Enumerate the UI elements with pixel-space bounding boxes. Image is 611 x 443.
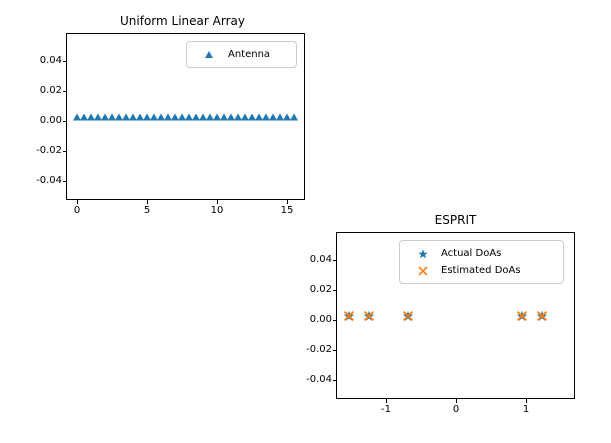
- ytick-label: -0.04: [18, 176, 62, 186]
- ytick-label: -0.02: [18, 146, 62, 156]
- estimated-doa-marker: [537, 306, 548, 325]
- xtick-mark: [217, 200, 218, 204]
- legend-uniform-linear-array[interactable]: Antenna: [186, 41, 297, 68]
- xtick-mark: [526, 399, 527, 403]
- legend-label: Antenna: [224, 49, 270, 60]
- xtick-mark: [386, 399, 387, 403]
- ytick-label: -0.02: [288, 345, 332, 355]
- ytick-label: 0.00: [22, 116, 62, 126]
- estimated-doa-marker: [403, 306, 414, 325]
- legend-entry-actual-doas[interactable]: Actual DoAs: [407, 245, 556, 262]
- xtick-mark: [77, 200, 78, 204]
- xtick-label: 15: [272, 206, 302, 216]
- triangle-up-icon: [194, 51, 224, 58]
- xtick-label: -1: [371, 405, 401, 415]
- estimated-doa-marker: [343, 306, 354, 325]
- legend-esprit[interactable]: Actual DoAs Estimated DoAs: [399, 240, 564, 284]
- xtick-label: 5: [132, 206, 162, 216]
- xtick-label: 0: [441, 405, 471, 415]
- ytick-label: 0.04: [22, 56, 62, 66]
- legend-label: Actual DoAs: [437, 248, 501, 259]
- xtick-label: 1: [511, 405, 541, 415]
- chart-title-esprit: ESPRIT: [336, 213, 575, 227]
- x-mark-icon: [407, 266, 437, 275]
- ytick-label: 0.02: [22, 86, 62, 96]
- ytick-label: 0.04: [292, 255, 332, 265]
- xtick-label: 0: [62, 206, 92, 216]
- xtick-mark: [287, 200, 288, 204]
- ytick-label: 0.00: [292, 315, 332, 325]
- estimated-doa-marker: [517, 306, 528, 325]
- legend-entry-estimated-doas[interactable]: Estimated DoAs: [407, 262, 556, 279]
- legend-entry-antenna[interactable]: Antenna: [194, 46, 289, 63]
- xtick-label: 10: [202, 206, 232, 216]
- xtick-mark: [456, 399, 457, 403]
- xtick-mark: [147, 200, 148, 204]
- estimated-doa-marker: [364, 306, 375, 325]
- antenna-marker: [290, 113, 298, 120]
- ytick-label: 0.02: [292, 285, 332, 295]
- ytick-label: -0.04: [288, 375, 332, 385]
- matplotlib-figure: Uniform Linear Array 0.04 0.02 0.00 -0.0…: [0, 0, 611, 443]
- star-icon: [407, 249, 437, 258]
- legend-label: Estimated DoAs: [437, 265, 521, 276]
- chart-title-uniform-linear-array: Uniform Linear Array: [59, 14, 306, 28]
